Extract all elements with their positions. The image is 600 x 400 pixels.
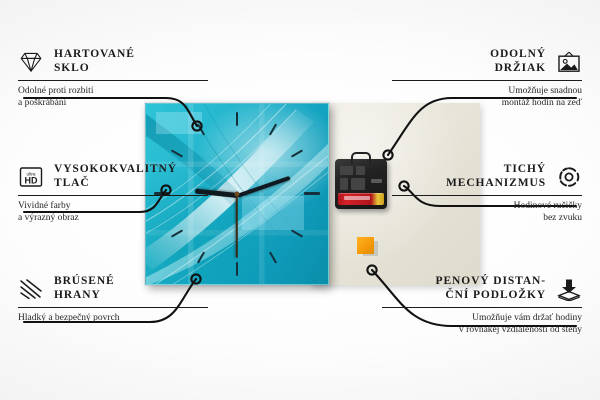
mechanism-detail-d <box>351 178 365 190</box>
feature-title: PENOVÝ DISTAN- ČNÍ PODLOŽKY <box>436 275 546 302</box>
feature-hd-print: ultra HD VYSOKOKVALITNÝ TLAČ Vividné far… <box>18 163 208 224</box>
feature-description: Umožňuje snadnou montáž hodin na zeď <box>392 85 582 109</box>
feature-title-line1: BRÚSENÉ <box>54 275 115 289</box>
diamond-icon <box>18 50 44 74</box>
feature-desc-line2: a výrazný obraz <box>18 212 208 224</box>
clock-second-hand <box>236 195 238 257</box>
mechanism-detail-c <box>340 178 348 190</box>
feature-title-line2: DRŽIAK <box>490 62 546 76</box>
feature-foam-spacers: PENOVÝ DISTAN- ČNÍ PODLOŽKY Umožňuje vám… <box>382 275 582 336</box>
gear-icon <box>556 165 582 189</box>
feature-title-line1: ODOLNÝ <box>490 48 546 62</box>
mechanism-hanger <box>351 152 371 164</box>
feature-polished-edges: BRÚSENÉ HRANY Hladký a bezpečný povrch <box>18 275 208 324</box>
feature-title: TICHÝ MECHANIZMUS <box>446 163 546 190</box>
picture-frame-hanger-icon <box>556 50 582 74</box>
clock-tick-12 <box>236 112 238 126</box>
feature-desc-line1: Umožňuje vám držať hodiny <box>382 312 582 324</box>
feature-header: HARTOVANÉ SKLO <box>18 48 208 75</box>
feature-divider <box>18 195 208 196</box>
feature-title-line1: PENOVÝ DISTAN- <box>436 275 546 289</box>
feature-title-line2: HRANY <box>54 289 115 303</box>
aa-battery <box>338 193 384 205</box>
spacer-pad-icon <box>556 277 582 301</box>
clock-tick-6 <box>236 262 238 276</box>
feature-title: HARTOVANÉ SKLO <box>54 48 135 75</box>
feature-title-line2: TLAČ <box>54 177 177 191</box>
polished-edges-icon <box>18 277 44 301</box>
feature-description: Hladký a bezpečný povrch <box>18 312 208 324</box>
feature-title: VYSOKOKVALITNÝ TLAČ <box>54 163 177 190</box>
feature-title: BRÚSENÉ HRANY <box>54 275 115 302</box>
mechanism-detail-a <box>340 166 353 175</box>
ultra-hd-icon-large-label: HD <box>25 175 38 185</box>
feature-title-line1: VYSOKOKVALITNÝ <box>54 163 177 177</box>
feature-title: ODOLNÝ DRŽIAK <box>490 48 546 75</box>
feature-description: Vividné farby a výrazný obraz <box>18 200 208 224</box>
feature-title-line2: ČNÍ PODLOŽKY <box>436 289 546 303</box>
feature-desc-line1: Umožňuje snadnou <box>392 85 582 97</box>
feature-divider <box>18 307 208 308</box>
feature-divider <box>392 195 582 196</box>
feature-header: ODOLNÝ DRŽIAK <box>392 48 582 75</box>
feature-desc-line2: montáž hodin na zeď <box>392 97 582 109</box>
feature-description: Odolné proti rozbití a poškrábání <box>18 85 208 109</box>
feature-desc-line1: Vividné farby <box>18 200 208 212</box>
feature-divider <box>382 307 582 308</box>
feature-tempered-glass: HARTOVANÉ SKLO Odolné proti rozbití a po… <box>18 48 208 109</box>
feature-description: Umožňuje vám držať hodiny v rovnakej vzd… <box>382 312 582 336</box>
clock-center-hub <box>235 192 240 197</box>
feature-desc-line2: a poškrábání <box>18 97 208 109</box>
feature-title-line1: HARTOVANÉ <box>54 48 135 62</box>
infographic-canvas: HARTOVANÉ SKLO Odolné proti rozbití a po… <box>0 0 600 400</box>
ultra-hd-icon: ultra HD <box>18 165 44 189</box>
mechanism-detail-e <box>371 179 382 183</box>
feature-durable-hanger: ODOLNÝ DRŽIAK Umožňuje snadnou montáž ho… <box>392 48 582 109</box>
feature-desc-line1: Odolné proti rozbití <box>18 85 208 97</box>
feature-desc-line1: Hladký a bezpečný povrch <box>18 312 208 324</box>
mechanism-detail-b <box>356 166 365 175</box>
feature-header: ultra HD VYSOKOKVALITNÝ TLAČ <box>18 163 208 190</box>
feature-description: Hodinové ručičky bez zvuku <box>392 200 582 224</box>
feature-desc-line1: Hodinové ručičky <box>392 200 582 212</box>
feature-title-line2: SKLO <box>54 62 135 76</box>
battery-label <box>344 196 370 200</box>
feature-divider <box>392 80 582 81</box>
feature-divider <box>18 80 208 81</box>
feature-header: PENOVÝ DISTAN- ČNÍ PODLOŽKY <box>382 275 582 302</box>
feature-header: TICHÝ MECHANIZMUS <box>392 163 582 190</box>
quartz-mechanism <box>335 159 387 209</box>
feature-title-line1: TICHÝ <box>446 163 546 177</box>
feature-silent-mechanism: TICHÝ MECHANIZMUS Hodinové ručičky bez z… <box>392 163 582 224</box>
foam-spacer-pad <box>357 237 374 254</box>
feature-desc-line2: bez zvuku <box>392 212 582 224</box>
feature-title-line2: MECHANIZMUS <box>446 177 546 191</box>
feature-desc-line2: v rovnakej vzdialenosti od steny <box>382 324 582 336</box>
feature-header: BRÚSENÉ HRANY <box>18 275 208 302</box>
clock-tick-3 <box>304 192 320 195</box>
